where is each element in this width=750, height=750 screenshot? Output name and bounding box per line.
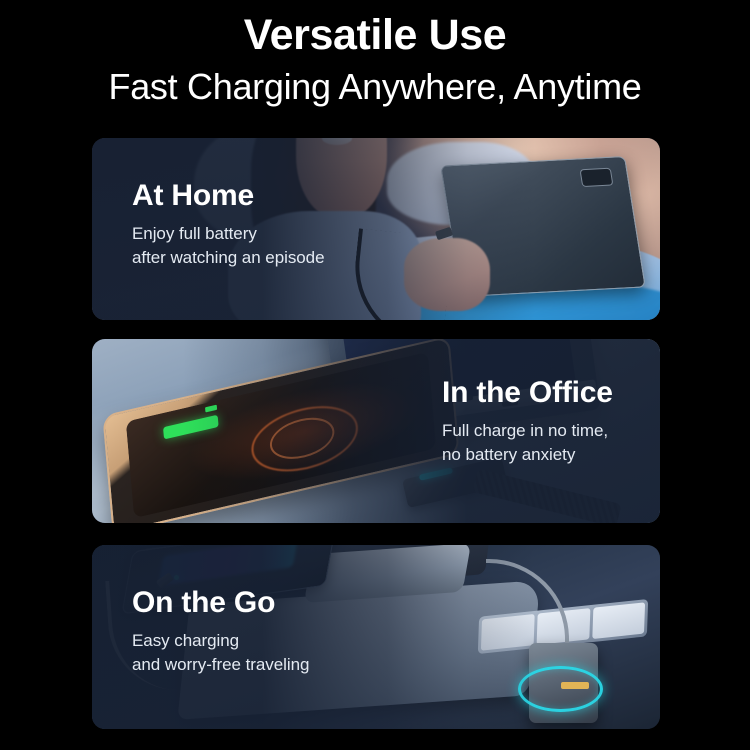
- panel-title: At Home: [132, 178, 325, 214]
- panel-title: On the Go: [132, 585, 309, 621]
- feature-panel-on-the-go: On the Go Easy charging and worry-free t…: [92, 545, 660, 729]
- caption-at-home: At Home Enjoy full battery after watchin…: [132, 178, 325, 270]
- panel-body-line-1: Enjoy full battery: [132, 222, 325, 246]
- page-subtitle: Fast Charging Anywhere, Anytime: [0, 64, 750, 110]
- caption-in-the-office: In the Office Full charge in no time, no…: [442, 375, 613, 467]
- header: Versatile Use Fast Charging Anywhere, An…: [0, 0, 750, 132]
- promo-page: Versatile Use Fast Charging Anywhere, An…: [0, 0, 750, 750]
- panel-title: In the Office: [442, 375, 613, 411]
- panel-body-line-1: Full charge in no time,: [442, 419, 613, 443]
- feature-panel-at-home: At Home Enjoy full battery after watchin…: [92, 138, 660, 320]
- panel-body-line-2: after watching an episode: [132, 246, 325, 270]
- feature-panel-in-the-office: In the Office Full charge in no time, no…: [92, 339, 660, 523]
- page-title: Versatile Use: [0, 10, 750, 60]
- panel-body-line-2: and worry-free traveling: [132, 653, 309, 677]
- panel-body-line-2: no battery anxiety: [442, 443, 613, 467]
- caption-on-the-go: On the Go Easy charging and worry-free t…: [132, 585, 309, 677]
- panel-body-line-1: Easy charging: [132, 629, 309, 653]
